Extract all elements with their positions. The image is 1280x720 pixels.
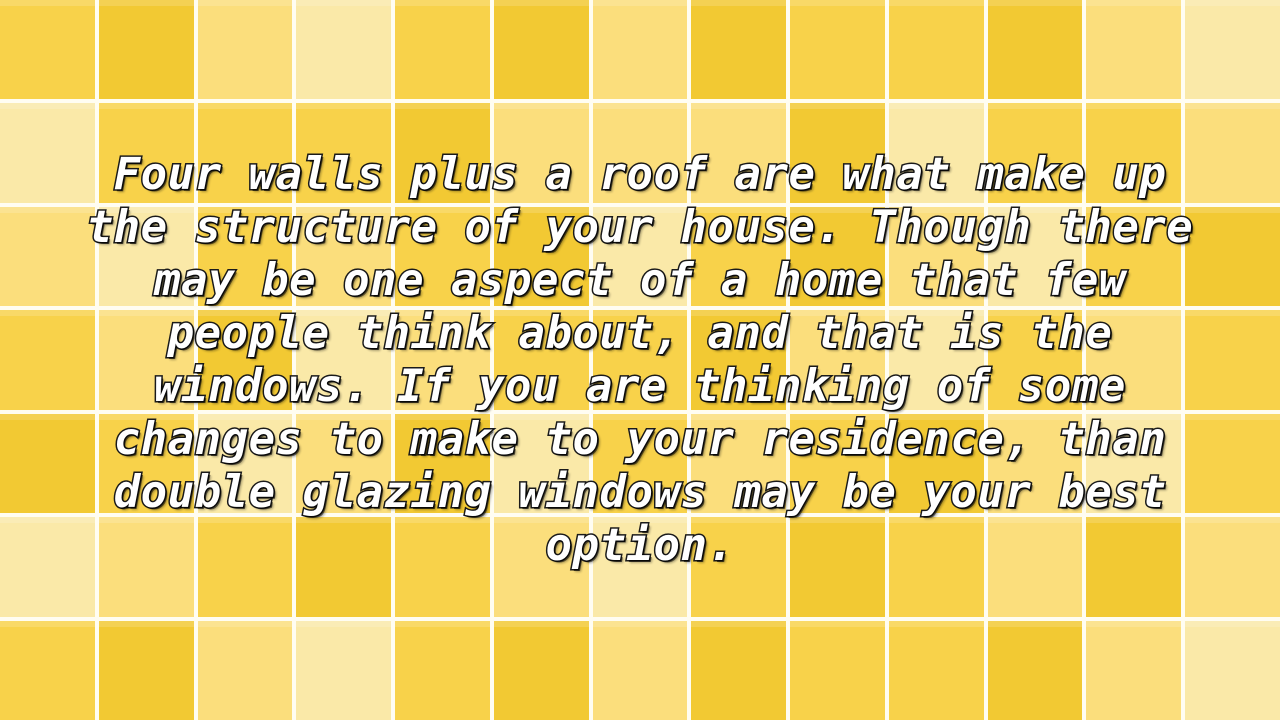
quote-text-block: Four walls plus a roof are what make up … (0, 148, 1280, 572)
quote-line: changes to make to your residence, than (18, 413, 1262, 466)
background-tile (889, 621, 984, 720)
background-tile (494, 0, 589, 99)
quote-line: option. (18, 519, 1262, 572)
quote-line: may be one aspect of a home that few (18, 254, 1262, 307)
background-tile (691, 0, 786, 99)
quote-line: people think about, and that is the (18, 307, 1262, 360)
background-tile (1086, 621, 1181, 720)
background-tile (395, 621, 490, 720)
background-tile (99, 621, 194, 720)
background-tile (593, 621, 688, 720)
quote-line: double glazing windows may be your best (18, 466, 1262, 519)
background-tile (198, 621, 293, 720)
background-tile (691, 621, 786, 720)
background-tile (889, 0, 984, 99)
background-tile (99, 0, 194, 99)
background-tile (988, 0, 1083, 99)
background-tile (1185, 621, 1280, 720)
image-canvas: Four walls plus a roof are what make up … (0, 0, 1280, 720)
background-tile (494, 621, 589, 720)
background-tile (395, 0, 490, 99)
background-tile (198, 0, 293, 99)
background-tile (1086, 0, 1181, 99)
background-tile (1185, 0, 1280, 99)
background-tile (0, 621, 95, 720)
background-tile (296, 0, 391, 99)
background-tile (296, 621, 391, 720)
background-tile (593, 0, 688, 99)
background-tile (0, 0, 95, 99)
background-tile (988, 621, 1083, 720)
quote-line: the structure of your house. Though ther… (18, 201, 1262, 254)
quote-line: windows. If you are thinking of some (18, 360, 1262, 413)
quote-line: Four walls plus a roof are what make up (18, 148, 1262, 201)
background-tile (790, 621, 885, 720)
background-tile (790, 0, 885, 99)
